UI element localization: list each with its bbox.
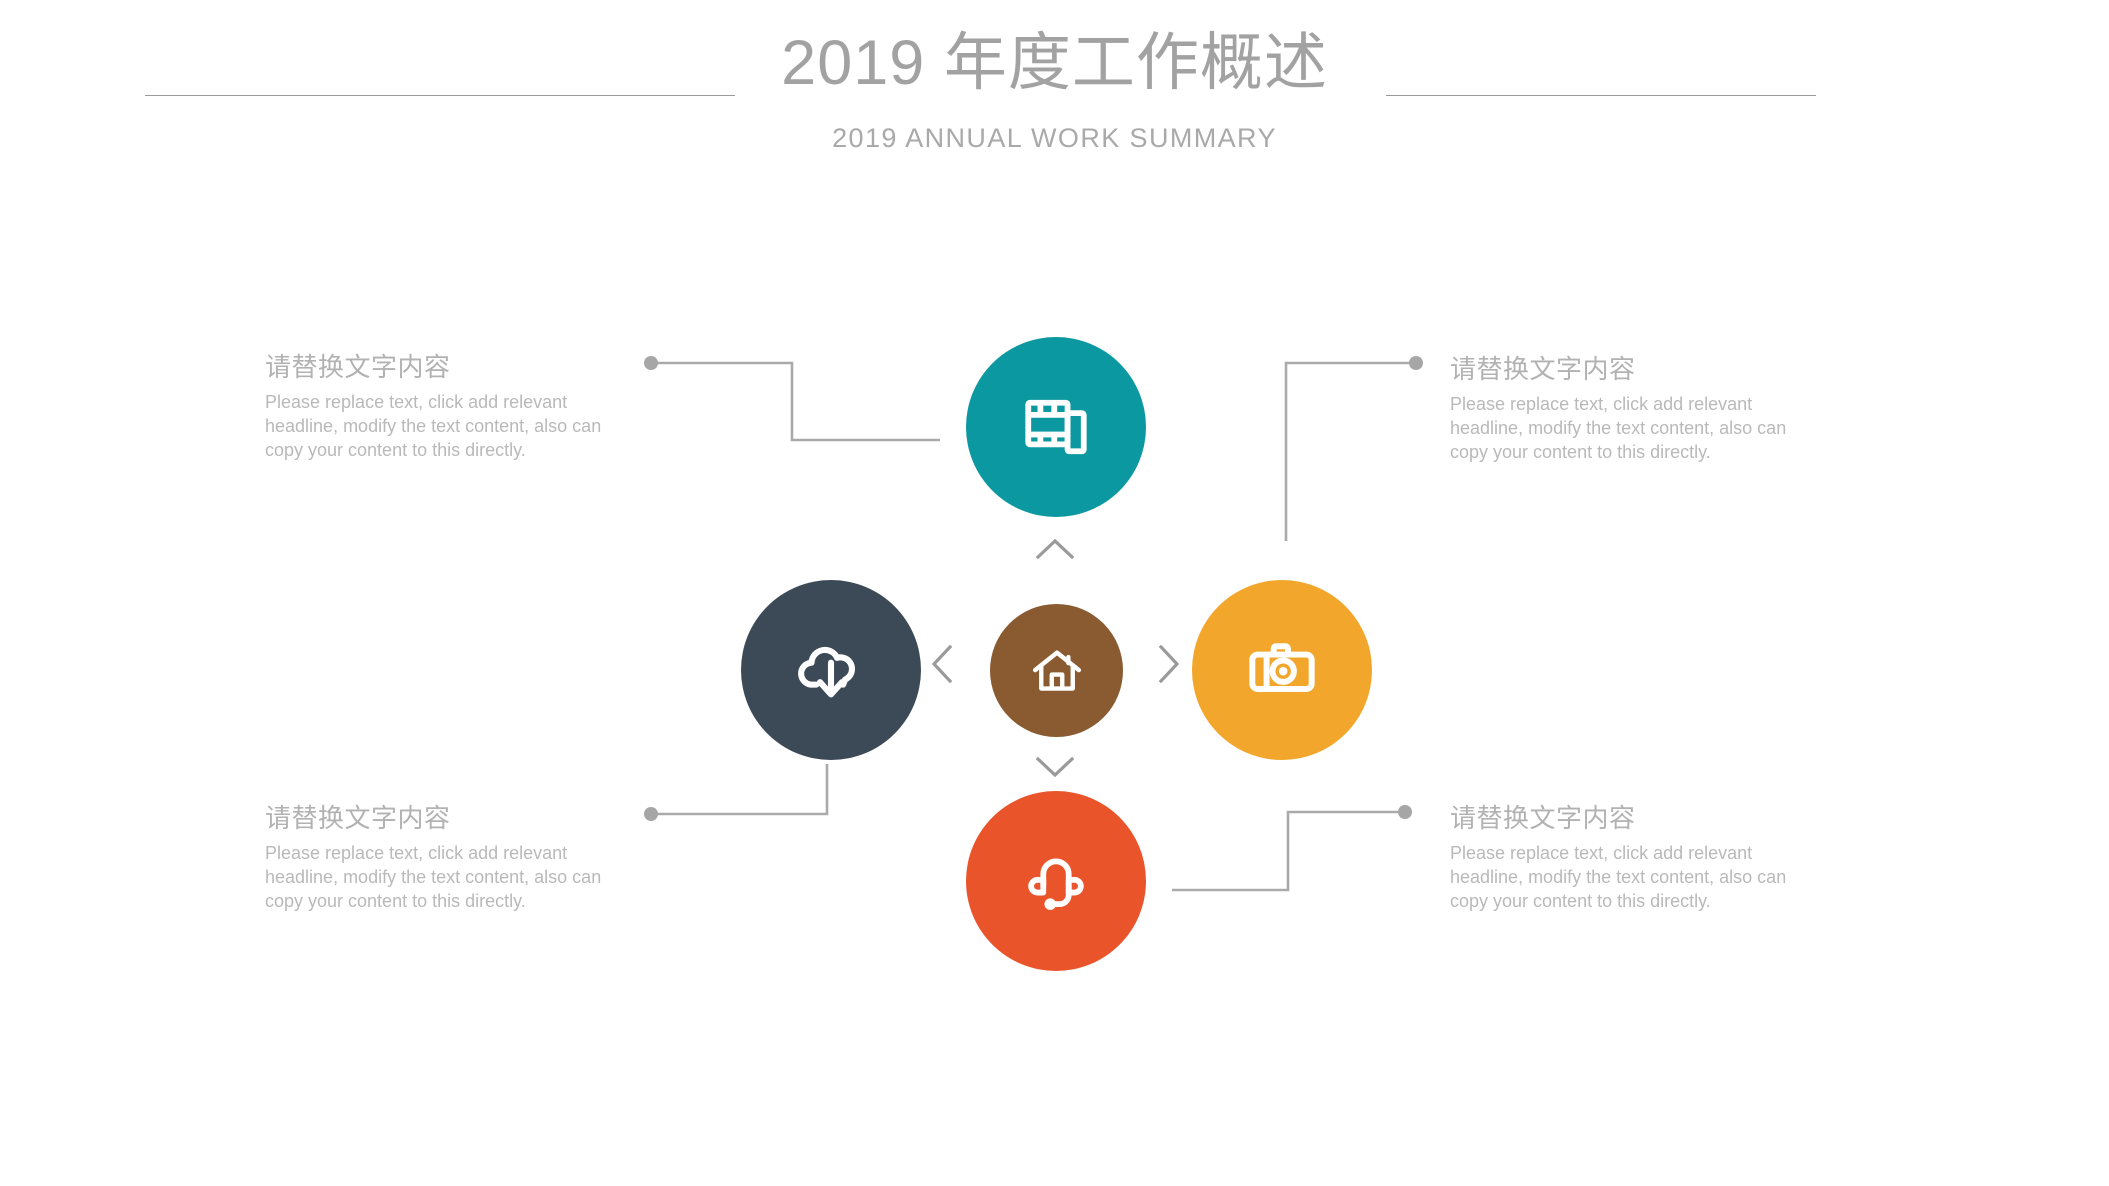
- chevron-right-icon: [1157, 645, 1181, 688]
- text-block-heading: 请替换文字内容: [265, 801, 625, 835]
- text-block-heading: 请替换文字内容: [265, 350, 625, 384]
- chevron-down-icon: [1036, 755, 1074, 784]
- connector-top-left: [644, 356, 940, 440]
- connector-bottom-right: [1172, 805, 1412, 890]
- text-block-heading: 请替换文字内容: [1450, 801, 1810, 835]
- text-block-bottom-left: 请替换文字内容 Please replace text, click add r…: [265, 801, 625, 913]
- connector-dot: [644, 356, 658, 370]
- connector-dot: [1409, 356, 1423, 370]
- cloud-download-icon: [792, 631, 870, 709]
- node-circle-top[interactable]: [966, 337, 1146, 517]
- text-block-top-left: 请替换文字内容 Please replace text, click add r…: [265, 350, 625, 462]
- chevron-up-icon: [1036, 537, 1074, 566]
- connector-dot: [1398, 805, 1412, 819]
- page-subtitle: 2019 ANNUAL WORK SUMMARY: [0, 122, 2109, 155]
- node-circle-right[interactable]: [1192, 580, 1372, 760]
- chevron-left-icon: [930, 645, 954, 688]
- text-block-body: Please replace text, click add relevant …: [265, 841, 625, 913]
- node-circle-bottom[interactable]: [966, 791, 1146, 971]
- film-icon: [1019, 390, 1093, 464]
- headset-icon: [1019, 844, 1093, 918]
- camera-icon: [1244, 632, 1320, 708]
- node-circle-left[interactable]: [741, 580, 921, 760]
- connector-dot: [644, 807, 658, 821]
- text-block-heading: 请替换文字内容: [1450, 352, 1810, 386]
- page-header: 2019 年度工作概述 2019 ANNUAL WORK SUMMARY: [0, 0, 2109, 180]
- connector-bottom-left: [644, 764, 827, 821]
- connector-top-right: [1286, 356, 1423, 541]
- text-block-body: Please replace text, click add relevant …: [1450, 841, 1810, 913]
- text-block-top-right: 请替换文字内容 Please replace text, click add r…: [1450, 352, 1810, 464]
- page-title: 2019 年度工作概述: [0, 24, 2109, 102]
- text-block-body: Please replace text, click add relevant …: [1450, 392, 1810, 464]
- text-block-bottom-right: 请替换文字内容 Please replace text, click add r…: [1450, 801, 1810, 913]
- text-block-body: Please replace text, click add relevant …: [265, 390, 625, 462]
- home-icon: [1029, 643, 1085, 699]
- node-circle-center[interactable]: [990, 604, 1123, 737]
